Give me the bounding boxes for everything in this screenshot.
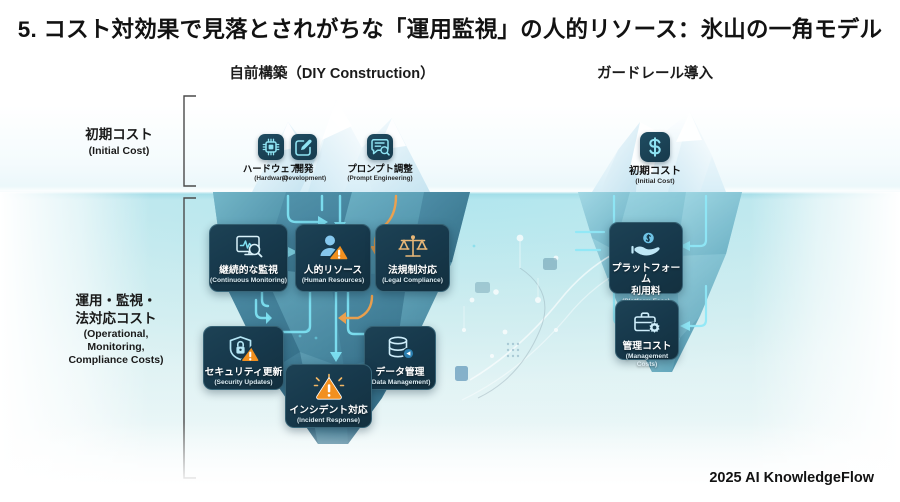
infographic-canvas: 5. コスト対効果で見落とされがちな「運用監視」の人的リソース：氷山の一角モデル… xyxy=(0,0,900,502)
card-human-resources-en: (Human Resources) xyxy=(302,277,364,285)
card-legal-compliance-jp: 法規制対応 xyxy=(388,265,437,276)
footer-credit: 2025 AI KnowledgeFlow xyxy=(709,470,874,486)
card-management-costs[interactable]: 管理コスト (Management Costs) xyxy=(615,300,679,360)
side-label-initial-cost: 初期コスト (Initial Cost) xyxy=(58,126,180,157)
top-item-prompt-engineering[interactable]: プロンプト調整 (Prompt Engineering) xyxy=(337,134,423,182)
warning-triangle-icon xyxy=(309,372,349,402)
card-platform-fees-jp: プラットフォーム 利用料 xyxy=(610,263,682,297)
card-legal-compliance-en: (Legal Compliance) xyxy=(382,277,443,285)
column-heading-guardrail: ガードレール導入 xyxy=(545,62,765,83)
top-item-initial-cost-en: (Initial Cost) xyxy=(612,178,698,185)
side-label-operational-cost: 運用・監視・ 法対応コスト (Operational, Monitoring, … xyxy=(46,292,186,366)
side-label-initial-jp: 初期コスト xyxy=(58,126,180,144)
side-label-initial-en: (Initial Cost) xyxy=(58,145,180,158)
top-item-development[interactable]: 開発 (Development) xyxy=(261,134,347,182)
chat-search-icon xyxy=(367,134,393,160)
top-item-development-en: (Development) xyxy=(261,175,347,182)
card-incident-response[interactable]: インシデント対応 (Incident Response) xyxy=(285,364,372,428)
card-management-costs-en: (Management Costs) xyxy=(616,353,678,368)
edit-square-icon xyxy=(291,134,317,160)
top-item-initial-cost-jp: 初期コスト xyxy=(612,166,698,177)
top-item-initial-cost[interactable]: 初期コスト (Initial Cost) xyxy=(612,132,698,186)
card-platform-fees[interactable]: プラットフォーム 利用料 (Platform Fees) xyxy=(609,222,683,294)
card-data-management-en: (Data Management) xyxy=(370,379,431,387)
card-legal-compliance[interactable]: 法規制対応 (Legal Compliance) xyxy=(375,224,450,292)
card-continuous-monitoring[interactable]: 継続的な監視 (Continuous Monitoring) xyxy=(209,224,288,292)
card-incident-response-en: (Incident Response) xyxy=(297,417,360,425)
top-item-development-jp: 開発 xyxy=(261,164,347,174)
card-security-updates-jp: セキュリティ更新 xyxy=(205,367,283,378)
card-continuous-monitoring-en: (Continuous Monitoring) xyxy=(210,277,287,285)
side-label-operational-jp: 運用・監視・ 法対応コスト xyxy=(46,292,186,327)
side-label-operational-en: (Operational, Monitoring, Compliance Cos… xyxy=(46,328,186,366)
card-security-updates-en: (Security Updates) xyxy=(214,379,272,387)
dollar-icon xyxy=(640,132,670,162)
card-human-resources[interactable]: 人的リソース (Human Resources) xyxy=(295,224,371,292)
card-human-resources-jp: 人的リソース xyxy=(304,265,362,276)
top-item-prompt-jp: プロンプト調整 xyxy=(337,164,423,174)
card-incident-response-jp: インシデント対応 xyxy=(289,405,367,416)
card-data-management-jp: データ管理 xyxy=(376,367,425,378)
hand-coin-icon xyxy=(626,230,666,260)
bracket-initial-cost xyxy=(184,96,196,186)
sea-fade-bottom xyxy=(0,422,900,502)
briefcase-gear-icon xyxy=(627,308,667,338)
scales-icon xyxy=(393,232,433,262)
top-item-prompt-en: (Prompt Engineering) xyxy=(337,175,423,182)
card-management-costs-jp: 管理コスト xyxy=(623,341,672,352)
card-continuous-monitoring-jp: 継続的な監視 xyxy=(219,265,278,276)
column-heading-diy: 自前構築（DIY Construction） xyxy=(222,62,442,83)
monitor-search-icon xyxy=(229,232,269,262)
shield-lock-icon xyxy=(224,334,264,364)
card-security-updates[interactable]: セキュリティ更新 (Security Updates) xyxy=(203,326,284,390)
page-title: 5. コスト対効果で見落とされがちな「運用監視」の人的リソース：氷山の一角モデル xyxy=(0,12,900,44)
person-icon xyxy=(313,232,353,262)
card-data-management[interactable]: データ管理 (Data Management) xyxy=(364,326,436,390)
database-icon xyxy=(380,334,420,364)
